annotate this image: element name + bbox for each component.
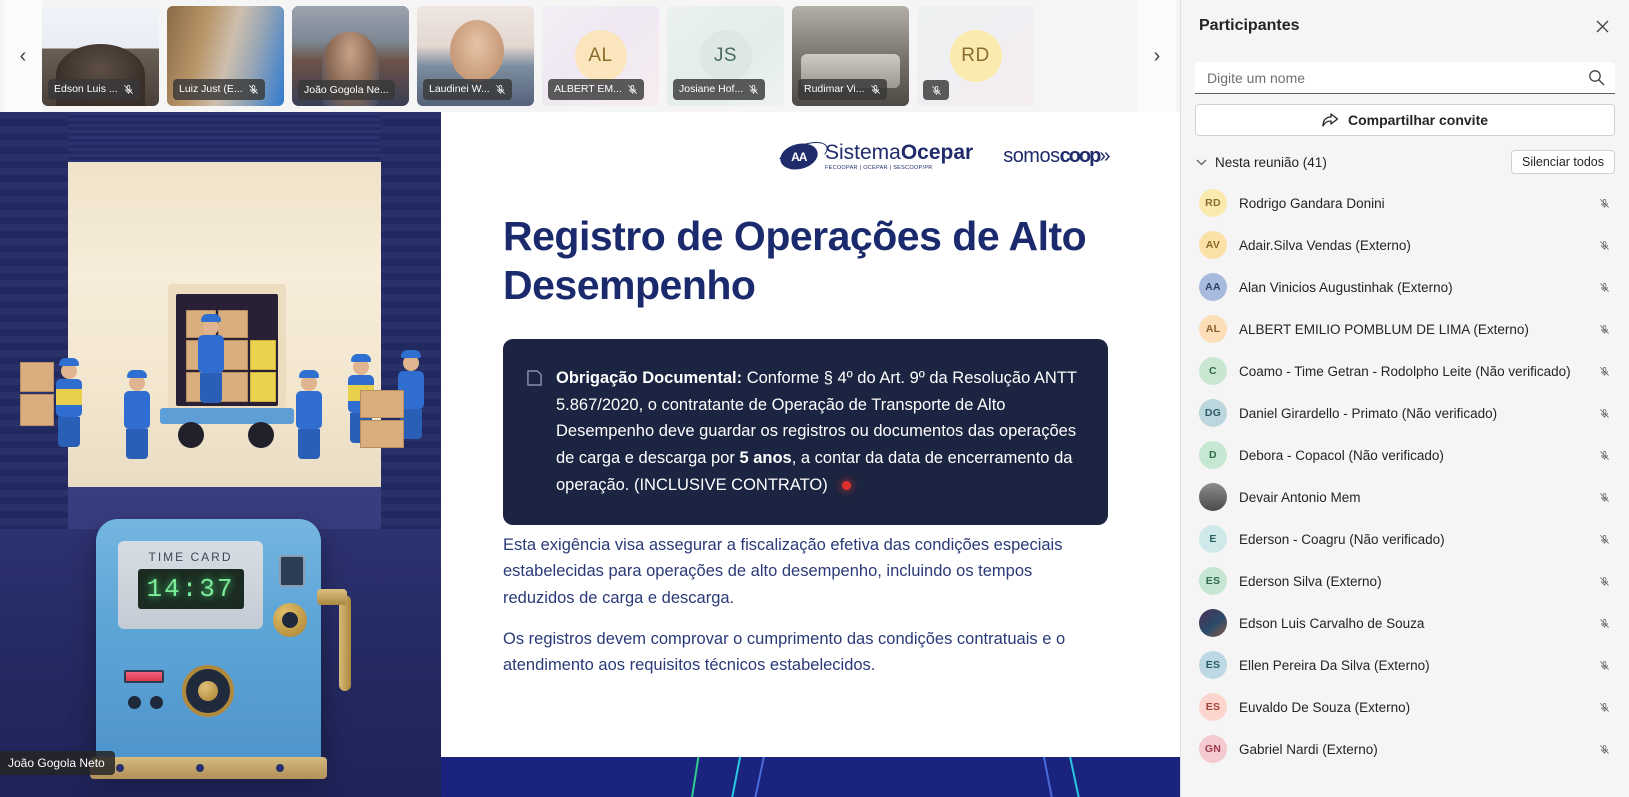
participant-avatar: C (1199, 357, 1227, 385)
mic-off-icon (748, 84, 759, 95)
participant-name: Coamo - Time Getran - Rodolpho Leite (Nã… (1239, 364, 1595, 379)
participant-row[interactable]: AAAlan Vinicios Augustinhak (Externo) (1181, 266, 1629, 308)
participant-avatar: AL (1199, 315, 1227, 343)
participant-avatar: AA (1199, 273, 1227, 301)
participant-name: Adair.Silva Vendas (Externo) (1239, 238, 1595, 253)
participant-avatar: AV (1199, 231, 1227, 259)
participant-mute-toggle[interactable] (1595, 744, 1613, 755)
participant-avatar: ES (1199, 651, 1227, 679)
mic-off-icon (495, 84, 506, 95)
shared-content-stage: TIME CARD 14:37 (0, 112, 1180, 797)
mic-off-icon (248, 84, 259, 95)
participant-mute-toggle[interactable] (1595, 408, 1613, 419)
callout-text: Obrigação Documental: Conforme § 4º do A… (556, 365, 1082, 499)
participant-row[interactable]: DGDaniel Girardello - Primato (Não verif… (1181, 392, 1629, 434)
sistema-ocepar-logo: AA SistemaOcepar FECOOPAR | OCEPAR | SES… (780, 142, 973, 172)
logo-ocepar-sub: FECOOPAR | OCEPAR | SESCOOP/PR (825, 166, 973, 172)
laser-pointer-dot (842, 481, 851, 490)
logo-coop-text: coop (1060, 145, 1100, 167)
participant-name: Ellen Pereira Da Silva (Externo) (1239, 658, 1595, 673)
close-icon[interactable] (1589, 13, 1615, 39)
participant-name: Ederson Silva (Externo) (1239, 574, 1595, 589)
video-tile[interactable]: RD (917, 6, 1034, 106)
mic-off-icon (1599, 240, 1610, 251)
participant-mute-toggle[interactable] (1595, 282, 1613, 293)
participant-row[interactable]: AVAdair.Silva Vendas (Externo) (1181, 224, 1629, 266)
tile-name-badge: Josiane Hof... (673, 79, 765, 100)
obligation-callout: Obrigação Documental: Conforme § 4º do A… (503, 339, 1108, 525)
participant-avatar (1199, 483, 1227, 511)
participant-name: Edson Luis Carvalho de Souza (1239, 616, 1595, 631)
mic-off-icon (1599, 492, 1610, 503)
callout-lead: Obrigação Documental: (556, 369, 742, 387)
time-card-display: 14:37 (146, 574, 234, 604)
participant-row[interactable]: DDebora - Copacol (Não verificado) (1181, 434, 1629, 476)
participant-avatar (1199, 609, 1227, 637)
participant-name: Debora - Copacol (Não verificado) (1239, 448, 1595, 463)
meeting-section-header: Nesta reunião (41) Silenciar todos (1181, 136, 1629, 182)
participant-avatar: ES (1199, 693, 1227, 721)
tile-name-badge: Rudimar Vi... (798, 79, 887, 100)
video-tile[interactable]: João Gogola Ne... (292, 6, 409, 106)
tile-name-label: Rudimar Vi... (804, 84, 865, 95)
tile-name-badge: Edson Luis ... (48, 79, 140, 100)
video-tile[interactable]: JSJosiane Hof... (667, 6, 784, 106)
participants-panel-controls: Compartilhar convite (1181, 52, 1629, 136)
participant-row[interactable]: RDRodrigo Gandara Donini (1181, 182, 1629, 224)
mic-off-icon (1599, 366, 1610, 377)
participant-row[interactable]: ALALBERT EMILIO POMBLUM DE LIMA (Externo… (1181, 308, 1629, 350)
participant-name: Devair Antonio Mem (1239, 490, 1595, 505)
mic-off-icon (123, 84, 134, 95)
share-invite-label: Compartilhar convite (1348, 112, 1488, 128)
participant-name: ALBERT EMILIO POMBLUM DE LIMA (Externo) (1239, 322, 1595, 337)
slide-title: Registro de Operações de Alto Desempenho (503, 212, 1123, 310)
slide-logos: AA SistemaOcepar FECOOPAR | OCEPAR | SES… (780, 142, 1110, 172)
mic-off-icon (1599, 618, 1610, 629)
participants-list: RDRodrigo Gandara DoniniAVAdair.Silva Ve… (1181, 182, 1629, 797)
mic-off-icon (1599, 198, 1610, 209)
participant-mute-toggle[interactable] (1595, 660, 1613, 671)
logo-somos-text: somos (1003, 145, 1059, 167)
presentation-slide: AA SistemaOcepar FECOOPAR | OCEPAR | SES… (441, 112, 1180, 797)
logo-sistema-text: Sistema (825, 141, 901, 164)
callout-emphasis: 5 anos (739, 449, 791, 467)
slide-paragraph-1: Esta exigência visa assegurar a fiscaliz… (503, 532, 1093, 611)
participant-avatar: E (1199, 525, 1227, 553)
participant-avatar: RD (1199, 189, 1227, 217)
mic-off-icon (1599, 660, 1610, 671)
participant-mute-toggle[interactable] (1595, 324, 1613, 335)
participant-row[interactable]: Edson Luis Carvalho de Souza (1181, 602, 1629, 644)
somoscoop-logo: somoscoop» (1003, 145, 1110, 168)
tile-name-badge: ALBERT EM... (548, 79, 644, 100)
participant-row[interactable]: ESEderson Silva (Externo) (1181, 560, 1629, 602)
participant-name: Alan Vinicios Augustinhak (Externo) (1239, 280, 1595, 295)
participants-title: Participantes (1199, 17, 1589, 35)
tile-name-label: Laudinei W... (429, 84, 490, 95)
participant-name: Ederson - Coagru (Não verificado) (1239, 532, 1595, 547)
share-invite-button[interactable]: Compartilhar convite (1195, 104, 1615, 136)
participants-panel-header: Participantes (1181, 0, 1629, 52)
participant-avatar: GN (1199, 735, 1227, 763)
tile-name-label: Luiz Just (E... (179, 84, 243, 95)
participant-name: Euvaldo De Souza (Externo) (1239, 700, 1595, 715)
chevron-down-icon[interactable] (1193, 159, 1209, 166)
mic-off-icon (1599, 576, 1610, 587)
participant-name: Rodrigo Gandara Donini (1239, 196, 1595, 211)
mic-off-icon (1599, 702, 1610, 713)
meeting-section-label: Nesta reunião (41) (1215, 155, 1511, 170)
participant-avatar: DG (1199, 399, 1227, 427)
ocepar-mark-icon: AA (777, 140, 820, 173)
self-name-badge: João Gogola Neto (0, 751, 115, 775)
participant-row[interactable]: Devair Antonio Mem (1181, 476, 1629, 518)
mic-off-icon (1599, 324, 1610, 335)
mic-off-icon (931, 85, 942, 96)
mic-off-icon (627, 84, 638, 95)
participant-row[interactable]: CCoamo - Time Getran - Rodolpho Leite (N… (1181, 350, 1629, 392)
participant-mute-toggle[interactable] (1595, 450, 1613, 461)
filmstrip-prev-button[interactable]: ‹ (4, 0, 42, 112)
document-icon (527, 370, 542, 386)
video-tile[interactable]: ALALBERT EM... (542, 6, 659, 106)
participant-avatar: ES (1199, 567, 1227, 595)
participant-mute-toggle[interactable] (1595, 240, 1613, 251)
participant-mute-toggle[interactable] (1595, 366, 1613, 377)
mute-all-button[interactable]: Silenciar todos (1511, 150, 1615, 174)
participant-row[interactable]: ESEuvaldo De Souza (Externo) (1181, 686, 1629, 728)
filmstrip-next-button[interactable]: › (1138, 0, 1176, 112)
participant-row[interactable]: EEderson - Coagru (Não verificado) (1181, 518, 1629, 560)
participant-mute-toggle[interactable] (1595, 198, 1613, 209)
video-tile[interactable]: Laudinei W... (417, 6, 534, 106)
mic-off-icon (1599, 282, 1610, 293)
participant-mute-toggle[interactable] (1595, 534, 1613, 545)
time-card-machine: TIME CARD 14:37 (96, 519, 321, 769)
participant-avatar: D (1199, 441, 1227, 469)
tile-mic-badge[interactable] (923, 80, 949, 100)
slide-paragraph-2: Os registros devem comprovar o cumprimen… (503, 626, 1093, 679)
tile-name-badge: Laudinei W... (423, 79, 512, 100)
tile-name-label: Edson Luis ... (54, 84, 118, 95)
video-tile[interactable]: Luiz Just (E... (167, 6, 284, 106)
time-card-label: TIME CARD (118, 550, 263, 564)
participant-name: Daniel Girardello - Primato (Não verific… (1239, 406, 1595, 421)
participant-mute-toggle[interactable] (1595, 576, 1613, 587)
tile-name-badge: João Gogola Ne... (298, 80, 395, 101)
slide-footer-decoration (441, 757, 1180, 797)
logo-ocepar-text: Ocepar (901, 141, 973, 164)
tile-name-label: Josiane Hof... (679, 84, 743, 95)
filmstrip-tiles: Edson Luis ...Luiz Just (E...João Gogola… (42, 4, 1138, 108)
video-tile[interactable]: Edson Luis ... (42, 6, 159, 106)
warehouse-illustration: TIME CARD 14:37 (0, 112, 441, 797)
mic-off-icon (870, 84, 881, 95)
search-icon (1588, 69, 1605, 86)
participant-row[interactable]: GNGabriel Nardi (Externo) (1181, 728, 1629, 770)
video-tile[interactable]: Rudimar Vi... (792, 6, 909, 106)
video-filmstrip: ‹ Edson Luis ...Luiz Just (E...João Gogo… (0, 0, 1180, 112)
participant-row[interactable]: ESEllen Pereira Da Silva (Externo) (1181, 644, 1629, 686)
search-input[interactable] (1207, 62, 1581, 93)
mic-off-icon (1599, 408, 1610, 419)
share-icon (1322, 112, 1339, 128)
mic-off-icon (1599, 744, 1610, 755)
participant-name: Gabriel Nardi (Externo) (1239, 742, 1595, 757)
mic-off-icon (1599, 450, 1610, 461)
mic-off-icon (1599, 534, 1610, 545)
participant-mute-toggle[interactable] (1595, 618, 1613, 629)
participants-panel: Participantes Compartilhar convite (1180, 0, 1629, 797)
participant-mute-toggle[interactable] (1595, 492, 1613, 503)
tile-name-label: ALBERT EM... (554, 84, 622, 95)
participant-mute-toggle[interactable] (1595, 702, 1613, 713)
search-field[interactable] (1195, 62, 1615, 94)
tile-name-label: João Gogola Ne... (304, 85, 389, 96)
tile-name-badge: Luiz Just (E... (173, 79, 265, 100)
